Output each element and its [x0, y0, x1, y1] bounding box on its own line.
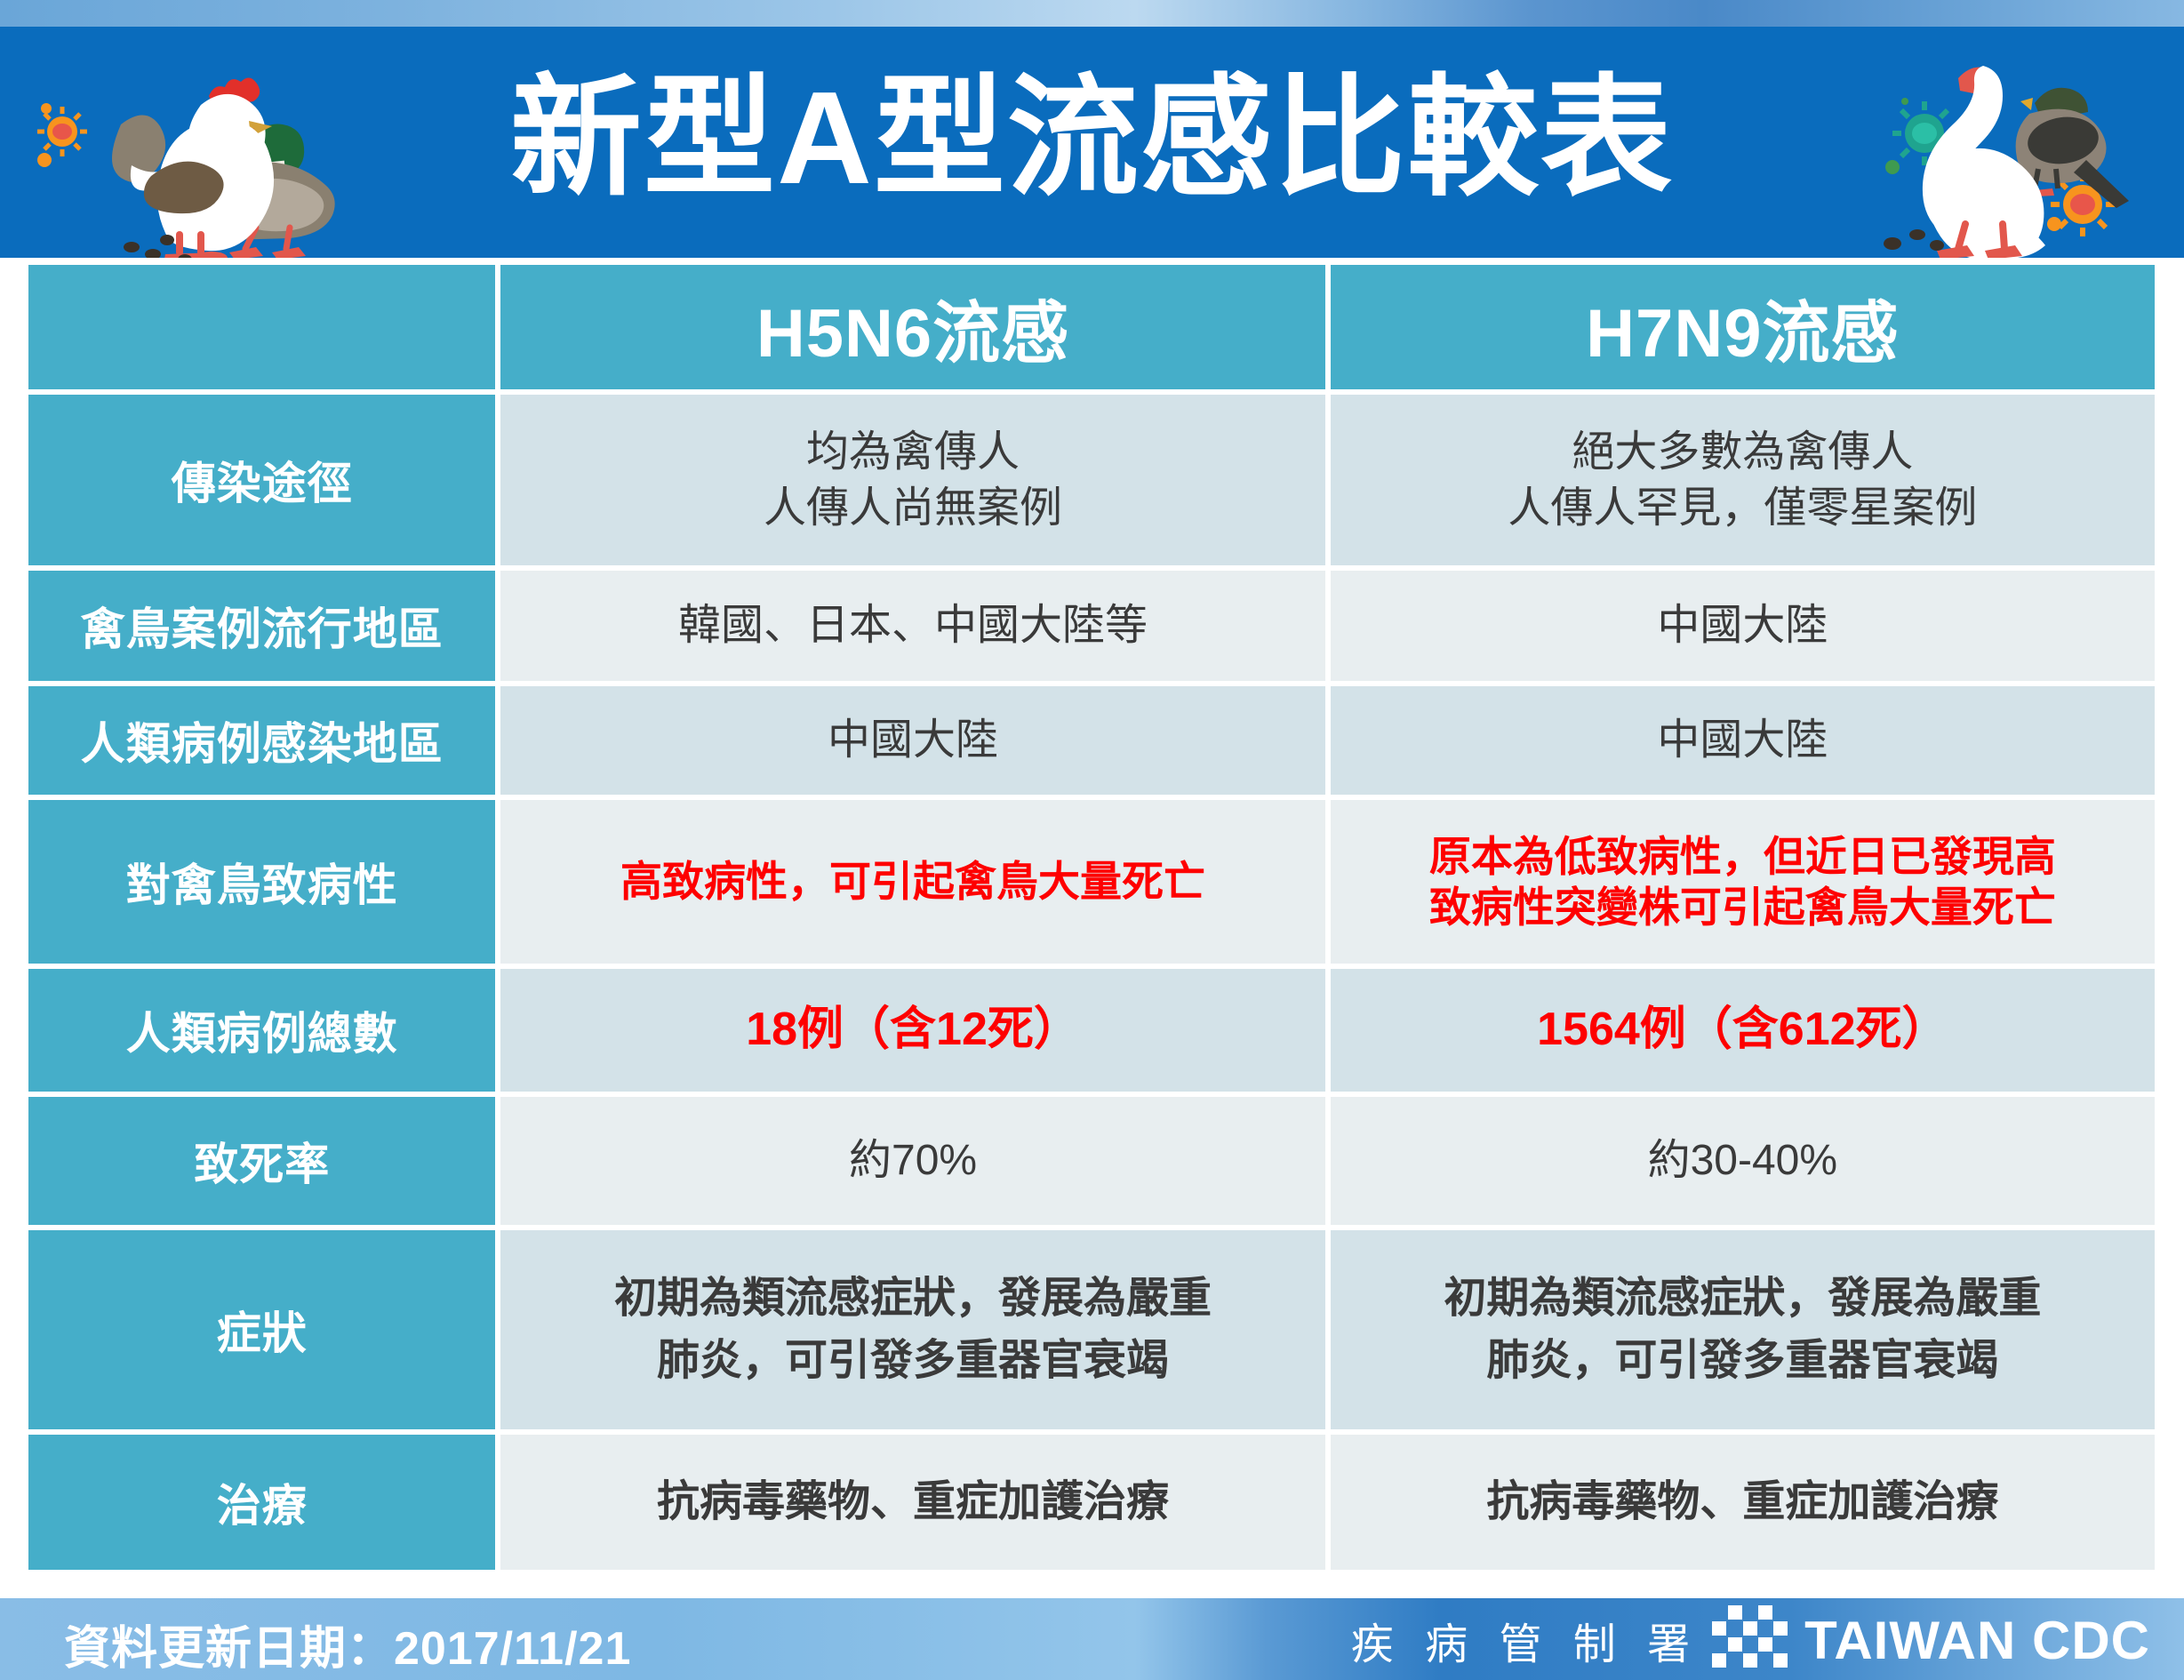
- cell-symptoms-h7n9: 初期為類流感症狀，發展為嚴重 肺炎，可引發多重器官衰竭: [1331, 1230, 2155, 1429]
- top-gradient-strip: [0, 0, 2184, 27]
- table-corner-cell: [28, 265, 495, 389]
- table-row: 傳染途徑 均為禽傳人 人傳人尚無案例 絕大多數為禽傳人 人傳人罕見，僅零星案例: [28, 395, 2155, 565]
- row-label-fatality-rate: 致死率: [28, 1097, 495, 1225]
- column-header-h5n6: H5N6流感: [500, 265, 1324, 389]
- infographic-page: 新型A型流感比較表 H5N6流感 H7N9流感 傳染途徑 均為禽傳人 人傳人尚無…: [0, 0, 2184, 1680]
- cell-total-cases-h5n6: 18例（含12死）: [500, 969, 1324, 1092]
- row-label-total-human-cases: 人類病例總數: [28, 969, 495, 1092]
- table-row: 對禽鳥致病性 高致病性，可引起禽鳥大量死亡 原本為低致病性，但近日已發現高 致病…: [28, 800, 2155, 964]
- cell-bird-regions-h7n9: 中國大陸: [1331, 571, 2155, 681]
- cell-bird-regions-h5n6: 韓國、日本、中國大陸等: [500, 571, 1324, 681]
- cell-fatality-h5n6: 約70%: [500, 1097, 1324, 1225]
- column-header-h7n9: H7N9流感: [1331, 265, 2155, 389]
- cell-symptoms-h5n6: 初期為類流感症狀，發展為嚴重 肺炎，可引發多重器官衰竭: [500, 1230, 1324, 1429]
- row-label-human-case-regions: 人類病例感染地區: [28, 686, 495, 795]
- table-row: 人類病例感染地區 中國大陸 中國大陸: [28, 686, 2155, 795]
- cell-treatment-h7n9: 抗病毒藥物、重症加護治療: [1331, 1435, 2155, 1570]
- header-banner: 新型A型流感比較表: [0, 27, 2184, 258]
- cdc-checker-mark-icon: [1712, 1605, 1788, 1675]
- row-label-bird-pathogenicity: 對禽鳥致病性: [28, 800, 495, 964]
- footer-bar: 資料更新日期：2017/11/21 疾 病 管 制 署 TAIWAN CDC: [0, 1598, 2184, 1680]
- cell-pathogenicity-h5n6: 高致病性，可引起禽鳥大量死亡: [500, 800, 1324, 964]
- row-label-transmission: 傳染途徑: [28, 395, 495, 565]
- table-row: 人類病例總數 18例（含12死） 1564例（含612死）: [28, 969, 2155, 1092]
- cell-human-regions-h7n9: 中國大陸: [1331, 686, 2155, 795]
- agency-name-chinese: 疾 病 管 制 署: [1351, 1609, 1700, 1671]
- row-label-bird-case-regions: 禽鳥案例流行地區: [28, 571, 495, 681]
- agency-name-english: TAIWAN CDC: [1804, 1610, 2150, 1671]
- cell-transmission-h7n9: 絕大多數為禽傳人 人傳人罕見，僅零星案例: [1331, 395, 2155, 565]
- cell-transmission-h5n6: 均為禽傳人 人傳人尚無案例: [500, 395, 1324, 565]
- table-row: 症狀 初期為類流感症狀，發展為嚴重 肺炎，可引發多重器官衰竭 初期為類流感症狀，…: [28, 1230, 2155, 1429]
- cell-human-regions-h5n6: 中國大陸: [500, 686, 1324, 795]
- cell-total-cases-h7n9: 1564例（含612死）: [1331, 969, 2155, 1092]
- feed-dots: [1884, 229, 1944, 251]
- table-row: 治療 抗病毒藥物、重症加護治療 抗病毒藥物、重症加護治療: [28, 1435, 2155, 1570]
- data-update-date: 資料更新日期：2017/11/21: [64, 1611, 631, 1677]
- row-label-symptoms: 症狀: [28, 1230, 495, 1429]
- table-row: 致死率 約70% 約30-40%: [28, 1097, 2155, 1225]
- table-row: 禽鳥案例流行地區 韓國、日本、中國大陸等 中國大陸: [28, 571, 2155, 681]
- row-label-treatment: 治療: [28, 1435, 495, 1570]
- cell-pathogenicity-h7n9: 原本為低致病性，但近日已發現高 致病性突變株可引起禽鳥大量死亡: [1331, 800, 2155, 964]
- taiwan-cdc-logo: 疾 病 管 制 署 TAIWAN CDC: [1351, 1605, 2150, 1675]
- cell-fatality-h7n9: 約30-40%: [1331, 1097, 2155, 1225]
- cell-treatment-h5n6: 抗病毒藥物、重症加護治療: [500, 1435, 1324, 1570]
- table-header-row: H5N6流感 H7N9流感: [28, 265, 2155, 389]
- page-title: 新型A型流感比較表: [0, 50, 2184, 228]
- comparison-table: H5N6流感 H7N9流感 傳染途徑 均為禽傳人 人傳人尚無案例 絕大多數為禽傳…: [28, 265, 2155, 1570]
